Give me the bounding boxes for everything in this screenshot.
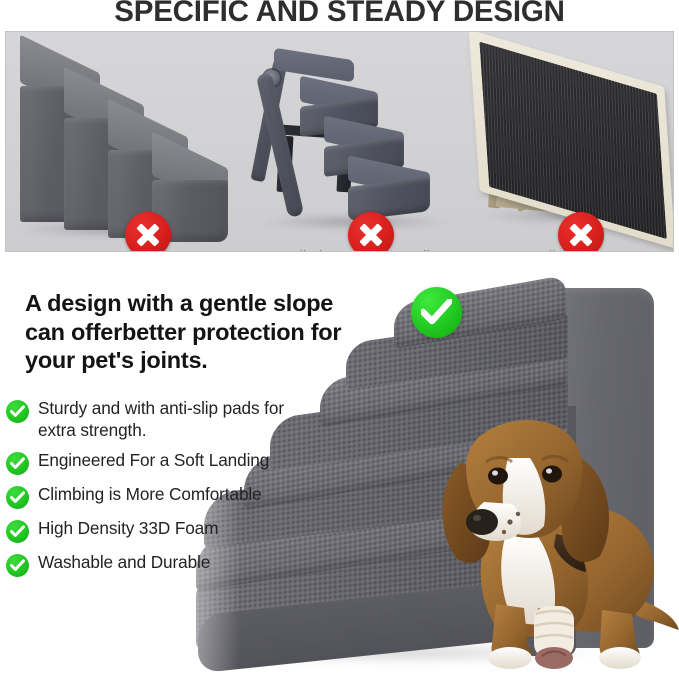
- red-x-badge: [348, 212, 394, 252]
- plastic-top-platform: [274, 48, 354, 83]
- green-check-badge: [411, 287, 462, 338]
- red-x-badge: [125, 212, 171, 252]
- dog-paw-left: [488, 647, 532, 669]
- benefit-item: Sturdy and with anti-slip pads for extra…: [6, 398, 318, 441]
- bandaged-paw-tip: [535, 647, 573, 669]
- green-check-icon: [6, 520, 29, 543]
- dog-paw-right: [599, 647, 641, 669]
- benefit-item: Engineered For a Soft Landing: [6, 450, 318, 475]
- dog-nose: [466, 509, 498, 535]
- benefit-label: Washable and Durable: [38, 552, 210, 574]
- muzzle-spot: [507, 519, 512, 524]
- green-check-icon: [6, 452, 29, 475]
- nose-highlight: [473, 515, 481, 521]
- dog-illustration: [432, 418, 679, 670]
- benefit-label: High Density 33D Foam: [38, 518, 218, 540]
- benefit-label: Engineered For a Soft Landing: [38, 450, 269, 472]
- eye-highlight: [492, 470, 498, 475]
- dog-eye-left: [488, 468, 508, 485]
- check-icon: [421, 299, 452, 326]
- benefit-label: Sturdy and with anti-slip pads for extra…: [38, 398, 318, 441]
- dog-eye-right: [542, 466, 562, 483]
- green-check-icon: [6, 486, 29, 509]
- benefit-item: Washable and Durable: [6, 552, 318, 577]
- infographic-page: SPECIFIC AND STEADY DESIGN: [0, 0, 679, 679]
- benefit-item: Climbing is More Comfortable: [6, 484, 318, 509]
- promo-headline: A design with a gentle slope can offerbe…: [25, 289, 355, 375]
- benefit-label: Climbing is More Comfortable: [38, 484, 262, 506]
- green-check-icon: [6, 554, 29, 577]
- benefit-item: High Density 33D Foam: [6, 518, 318, 543]
- benefits-list: Sturdy and with anti-slip pads for extra…: [6, 398, 318, 586]
- muzzle-spot: [502, 530, 506, 534]
- eye-highlight: [546, 468, 552, 473]
- page-title: SPECIFIC AND STEADY DESIGN: [0, 0, 679, 27]
- comparison-panel: Not Easy To Climb Slippery Easy To Fall: [5, 31, 674, 252]
- comparison-item-foam-box-stairs: [6, 32, 246, 252]
- muzzle-spot: [516, 512, 520, 516]
- red-x-badge: [558, 212, 604, 252]
- green-check-icon: [6, 400, 29, 423]
